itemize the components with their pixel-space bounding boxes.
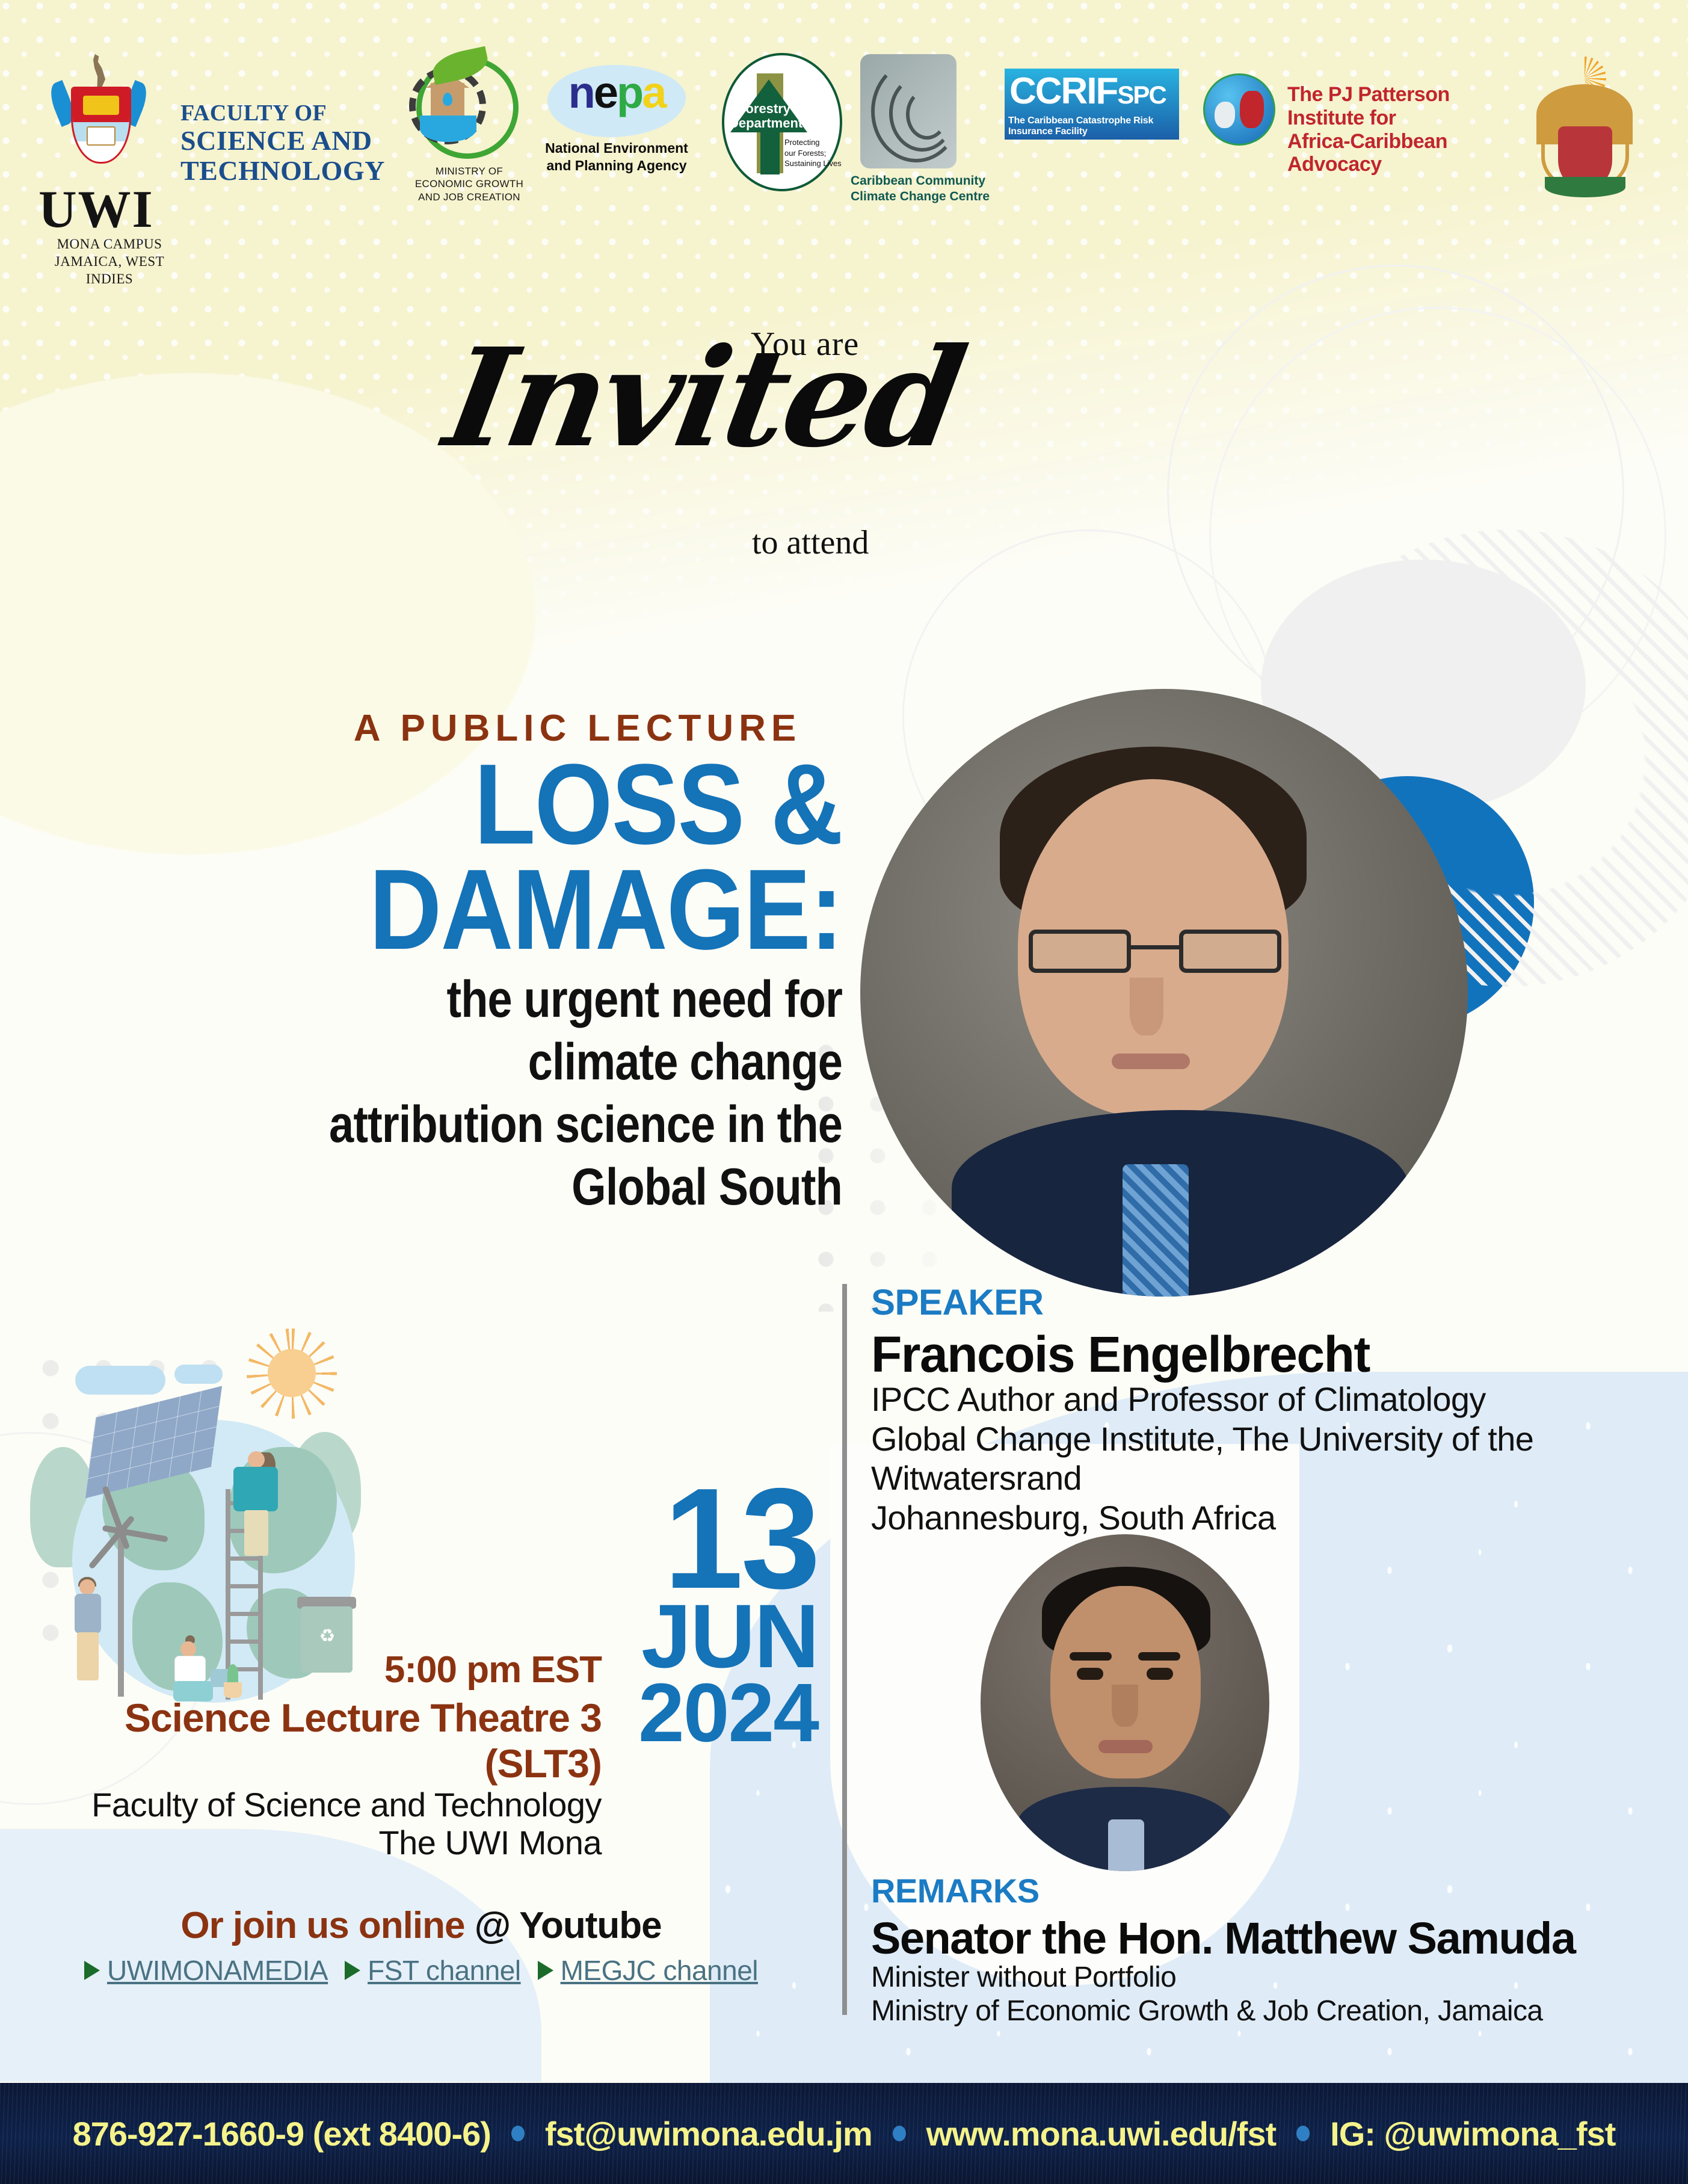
- logo-strip: UWI MONA CAMPUS JAMAICA, WEST INDIES FAC…: [0, 36, 1688, 235]
- pelican-icon: [88, 54, 110, 89]
- megjc-waterdrop-icon: [443, 93, 452, 106]
- bullet-dot-icon: [511, 2126, 525, 2141]
- remarks-brow-right: [1138, 1652, 1180, 1661]
- channel-link-fst[interactable]: FST channel: [345, 1954, 520, 1987]
- ladder-rung: [226, 1612, 263, 1616]
- ladder-rung: [226, 1556, 263, 1561]
- megjc-caption: MINISTRY OF ECONOMIC GROWTH AND JOB CREA…: [405, 165, 533, 203]
- event-venue-line1: Faculty of Science and Technology: [60, 1786, 602, 1824]
- event-date-block: 13 JUN 2024: [620, 1480, 818, 1751]
- forestry-tagline: Protecting our Forests; Sustaining Lives: [784, 137, 842, 169]
- speaker-details: SPEAKER Francois Engelbrecht IPCC Author…: [871, 1282, 1671, 1537]
- ccrif-caption: The Caribbean Catastrophe Risk Insurance…: [1008, 116, 1179, 137]
- contact-footer-inner: 876-927-1660-9 (ext 8400-6) fst@uwimona.…: [73, 2114, 1616, 2153]
- faculty-line1: FACULTY OF: [180, 101, 385, 126]
- eyeglass-lens-left: [1029, 930, 1131, 973]
- ccrif-wordmark-main: CCRIF: [1009, 70, 1117, 112]
- lecture-subtitle-line1: the urgent need for: [273, 973, 842, 1025]
- remarks-tie: [1108, 1819, 1144, 1871]
- play-triangle-icon: [345, 1961, 360, 1980]
- nepa-caption: National Environment and Planning Agency: [541, 140, 692, 174]
- crest-lion-icon: [83, 96, 119, 115]
- remarks-details: REMARKS Senator the Hon. Matthew Samuda …: [871, 1871, 1671, 2028]
- remarks-section-label: REMARKS: [871, 1871, 1671, 1910]
- event-date-month: JUN: [620, 1597, 818, 1675]
- poster-canvas: UWI MONA CAMPUS JAMAICA, WEST INDIES FAC…: [0, 0, 1688, 2184]
- forestry-tagline-line2: our Forests;: [784, 148, 842, 159]
- online-heading: Or join us online @ Youtube: [60, 1904, 782, 1947]
- eyeglass-lens-right: [1179, 930, 1281, 973]
- speaker-mouth: [1112, 1053, 1190, 1069]
- remarks-eye-left: [1077, 1668, 1103, 1680]
- contact-footer: 876-927-1660-9 (ext 8400-6) fst@uwimona.…: [0, 2083, 1688, 2184]
- cccc-caption-line2: Climate Change Centre: [851, 189, 993, 205]
- remarks-title-line1: Minister without Portfolio: [871, 1961, 1671, 1994]
- cccc-caption: Caribbean Community Climate Change Centr…: [851, 173, 993, 205]
- person-legs: [244, 1510, 268, 1556]
- remarks-mouth: [1098, 1740, 1153, 1753]
- uwi-campus-line2: JAMAICA, WEST INDIES: [31, 253, 188, 288]
- lecture-title-line2: DAMAGE:: [260, 857, 842, 963]
- speaker-section-label: SPEAKER: [871, 1282, 1671, 1323]
- person-head: [248, 1451, 265, 1468]
- lecture-title-line1: LOSS &: [260, 752, 842, 857]
- speaker-tie: [1123, 1164, 1189, 1297]
- lecture-title-block: LOSS & DAMAGE: the urgent need for clima…: [180, 752, 842, 1213]
- channel-label[interactable]: MEGJC channel: [561, 1954, 758, 1987]
- contact-phone: 876-927-1660-9 (ext 8400-6): [73, 2114, 491, 2153]
- nepa-wordmark: nepa: [553, 71, 680, 114]
- south-africa-coat-of-arms-icon: [1528, 48, 1642, 211]
- person-head: [79, 1579, 95, 1595]
- contact-instagram[interactable]: IG: @uwimona_fst: [1330, 2114, 1615, 2153]
- sun-icon: [268, 1349, 316, 1397]
- bullet-dot-icon: [893, 2126, 906, 2141]
- pj-globe-icon: [1203, 73, 1275, 146]
- event-hall: Science Lecture Theatre 3 (SLT3): [60, 1695, 602, 1786]
- online-channel-links: UWIMONAMEDIA FST channel MEGJC channel: [60, 1954, 782, 1987]
- cccc-arc-3: [906, 89, 948, 140]
- eyeglass-bridge: [1131, 945, 1179, 949]
- contact-website[interactable]: www.mona.uwi.edu/fst: [926, 2114, 1277, 2153]
- speaker-name: Francois Engelbrecht: [871, 1329, 1671, 1380]
- megjc-water-icon: [420, 116, 476, 142]
- pj-wordmark-line1: The PJ Patterson Institute for: [1287, 83, 1504, 130]
- contact-email[interactable]: fst@uwimona.edu.jm: [545, 2114, 872, 2153]
- pj-wordmark-line2: Africa-Caribbean Advocacy: [1287, 130, 1504, 177]
- remarks-name: Senator the Hon. Matthew Samuda: [871, 1916, 1671, 1961]
- cccc-mark-icon: [860, 54, 956, 168]
- play-triangle-icon: [538, 1961, 553, 1980]
- online-heading-brown: Or join us online: [180, 1905, 464, 1946]
- pj-africa-shape-icon: [1240, 91, 1264, 128]
- lecture-subtitle-line2: climate change: [273, 1036, 842, 1088]
- online-block: Or join us online @ Youtube UWIMONAMEDIA…: [60, 1904, 782, 1987]
- lecture-subtitle-line3: attribution science in the: [273, 1099, 842, 1150]
- faculty-line2: SCIENCE AND: [180, 126, 385, 156]
- person-body: [75, 1594, 101, 1633]
- nepa-caption-line1: National Environment: [541, 140, 692, 157]
- event-venue-block: 5:00 pm EST Science Lecture Theatre 3 (S…: [60, 1649, 602, 1862]
- lecture-subtitle-line4: Global South: [273, 1161, 842, 1213]
- faculty-line3: TECHNOLOGY: [180, 156, 385, 186]
- speaker-affiliation-line1: IPCC Author and Professor of Climatology: [871, 1380, 1671, 1419]
- forestry-title-line1: Forestry: [738, 101, 790, 117]
- remarks-eye-right: [1147, 1668, 1173, 1680]
- event-venue-line2: The UWI Mona: [60, 1824, 602, 1862]
- ccrif-wordmark-spc: SPC: [1117, 81, 1165, 109]
- pj-wordmark: The PJ Patterson Institute for Africa-Ca…: [1287, 83, 1504, 176]
- cccc-caption-line1: Caribbean Community: [851, 173, 993, 189]
- ladder-rung: [226, 1584, 263, 1588]
- invitation-script-word: Invited: [353, 319, 1055, 478]
- event-date-day: 13: [620, 1480, 818, 1597]
- bullet-dot-icon: [1296, 2126, 1310, 2141]
- megjc-caption-line2: AND JOB CREATION: [405, 191, 533, 203]
- crest-shield-icon: [71, 87, 131, 164]
- channel-link-uwimonamedia[interactable]: UWIMONAMEDIA: [84, 1954, 328, 1987]
- speaker-affiliation-line2: Global Change Institute, The University …: [871, 1419, 1671, 1498]
- forestry-title-line2: Department: [729, 116, 802, 131]
- megjc-caption-line1: MINISTRY OF ECONOMIC GROWTH: [405, 165, 533, 191]
- cloud-icon-2: [174, 1365, 223, 1384]
- remarks-title-line2: Ministry of Economic Growth & Job Creati…: [871, 1994, 1671, 2028]
- recycle-symbol-icon: ♻: [318, 1627, 337, 1646]
- play-triangle-icon: [84, 1961, 100, 1980]
- speaker-nose: [1130, 978, 1163, 1035]
- channel-link-megjc[interactable]: MEGJC channel: [538, 1954, 758, 1987]
- uwi-crest-icon: [55, 54, 146, 187]
- faculty-wordmark: FACULTY OF SCIENCE AND TECHNOLOGY: [180, 101, 385, 185]
- sa-motto-band-icon: [1545, 177, 1625, 197]
- nepa-caption-line2: and Planning Agency: [541, 157, 692, 174]
- uwi-campus-caption: MONA CAMPUS JAMAICA, WEST INDIES: [31, 236, 188, 288]
- column-divider: [842, 1284, 847, 2015]
- forestry-tagline-line1: Protecting: [784, 137, 842, 148]
- eyeglasses-icon: [1029, 930, 1281, 973]
- uwi-campus-line1: MONA CAMPUS: [31, 236, 188, 253]
- ladder-rung: [226, 1640, 263, 1644]
- person-body: [233, 1467, 278, 1511]
- remarks-brow-left: [1070, 1652, 1112, 1661]
- invitation-to-attend: to attend: [752, 523, 869, 562]
- remarks-photo: [981, 1534, 1269, 1871]
- forestry-tagline-line3: Sustaining Lives: [784, 158, 842, 169]
- remarks-nose: [1112, 1685, 1138, 1727]
- forestry-trunk-icon: [760, 130, 780, 174]
- speaker-affiliation-line3: Johannesburg, South Africa: [871, 1498, 1671, 1538]
- pj-americas-shape-icon: [1215, 102, 1235, 128]
- wind-turbine-hub-icon: [116, 1526, 128, 1538]
- speaker-photo: [860, 689, 1468, 1297]
- event-time: 5:00 pm EST: [60, 1649, 602, 1691]
- event-date-year: 2024: [620, 1675, 818, 1751]
- online-heading-black: @ Youtube: [475, 1905, 662, 1946]
- cloud-icon-1: [75, 1366, 165, 1395]
- uwi-wordmark: UWI: [39, 179, 154, 240]
- channel-label[interactable]: FST channel: [368, 1954, 520, 1987]
- crest-book-icon: [87, 126, 116, 146]
- invitation-block: You are Invited to attend: [373, 283, 1035, 584]
- channel-label[interactable]: UWIMONAMEDIA: [107, 1954, 328, 1987]
- ccrif-wordmark: CCRIFSPC: [1009, 70, 1166, 113]
